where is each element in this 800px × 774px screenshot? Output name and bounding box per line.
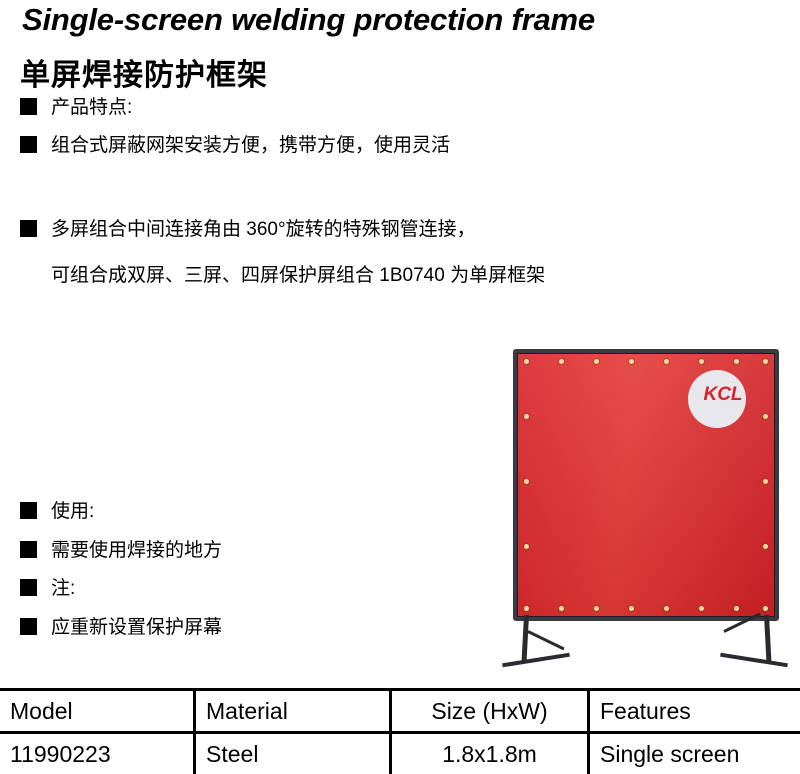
bullet-item-2: 多屏组合中间连接角由 360°旋转的特殊钢管连接， <box>20 220 476 239</box>
product-photo: KCL <box>492 330 796 675</box>
bullet-text: 使用: <box>51 502 94 521</box>
table-header-size: Size (HxW) <box>392 691 590 731</box>
bullet-square-icon <box>20 98 37 115</box>
frame-brace-left <box>527 630 564 650</box>
frame-leg-left <box>521 615 529 663</box>
bullet-square-icon <box>20 579 37 596</box>
logo-text: KCL <box>690 384 756 406</box>
spec-table: Model Material Size (HxW) Features 11990… <box>0 688 800 771</box>
bullet-item-6: 应重新设置保护屏幕 <box>20 618 222 637</box>
bullet-square-icon <box>20 541 37 558</box>
bullet-square-icon <box>20 502 37 519</box>
bullet-text: 组合式屏蔽网架安装方便，携带方便，使用灵活 <box>51 136 450 155</box>
bullet-item-3: 使用: <box>20 502 94 521</box>
bullet-text-continuation: 可组合成双屏、三屏、四屏保护屏组合 1B0740 为单屏框架 <box>51 260 545 287</box>
table-row: 11990223 Steel 1.8x1.8m Single screen <box>0 731 800 774</box>
frame-foot-right <box>720 653 788 668</box>
bullet-text: 需要使用焊接的地方 <box>51 541 222 560</box>
table-cell-model: 11990223 <box>0 734 196 774</box>
table-header-features: Features <box>590 691 800 731</box>
page-title-english: Single-screen welding protection frame <box>22 2 595 38</box>
table-cell-size: 1.8x1.8m <box>392 734 590 774</box>
bullet-text: 多屏组合中间连接角由 360°旋转的特殊钢管连接， <box>51 220 476 239</box>
bullet-square-icon <box>20 136 37 153</box>
bullet-square-icon <box>20 618 37 635</box>
frame-leg-right <box>764 615 772 663</box>
bullet-item-1: 组合式屏蔽网架安装方便，携带方便，使用灵活 <box>20 136 450 155</box>
table-header-row: Model Material Size (HxW) Features <box>0 691 800 731</box>
table-cell-material: Steel <box>196 734 392 774</box>
table-cell-features: Single screen <box>590 734 800 774</box>
bullet-text: 应重新设置保护屏幕 <box>51 618 222 637</box>
bullet-item-4: 需要使用焊接的地方 <box>20 541 222 560</box>
bullet-item-0: 产品特点: <box>20 98 132 117</box>
table-header-model: Model <box>0 691 196 731</box>
bullet-text: 产品特点: <box>51 98 132 117</box>
product-sheet: Single-screen welding protection frame 单… <box>0 0 800 771</box>
bullet-item-5: 注: <box>20 579 75 598</box>
frame-foot-left <box>502 653 570 668</box>
kcl-logo: KCL <box>688 370 756 430</box>
page-title-chinese: 单屏焊接防护框架 <box>20 50 268 94</box>
table-header-material: Material <box>196 691 392 731</box>
bullet-text: 注: <box>51 579 75 598</box>
bullet-square-icon <box>20 220 37 237</box>
